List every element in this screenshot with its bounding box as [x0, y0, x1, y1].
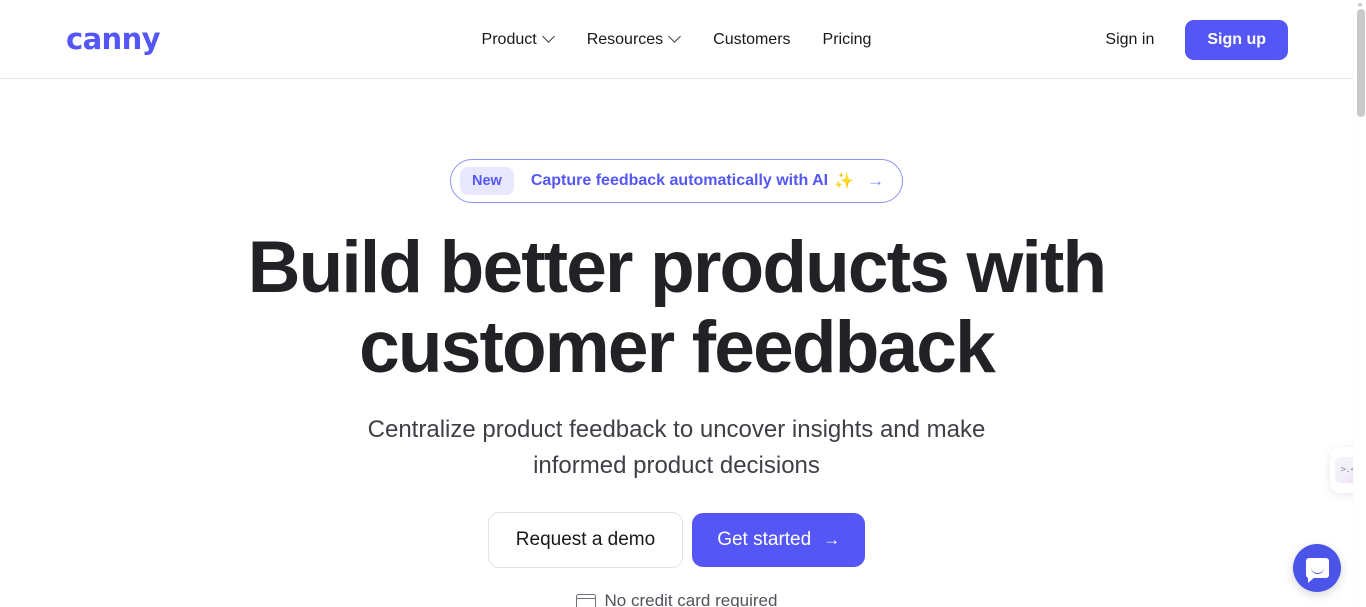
- smile-icon: [1311, 567, 1324, 574]
- announcement-banner-wrap: New Capture feedback automatically with …: [0, 159, 1353, 203]
- nav-item-label: Product: [482, 30, 537, 50]
- vertical-scrollbar[interactable]: [1353, 0, 1366, 607]
- browser-viewport: canny Product Resources Customers Pricin…: [0, 0, 1366, 607]
- site-header: canny Product Resources Customers Pricin…: [0, 0, 1353, 79]
- nav-item-product[interactable]: Product: [466, 22, 571, 58]
- nav-item-pricing[interactable]: Pricing: [807, 22, 888, 58]
- page-content: canny Product Resources Customers Pricin…: [0, 0, 1353, 607]
- sparkles-icon: ✨: [834, 171, 854, 191]
- arrow-right-icon: →: [867, 173, 884, 189]
- vertical-scrollbar-thumb[interactable]: [1357, 9, 1365, 117]
- nav-item-label: Pricing: [823, 30, 872, 50]
- nav-item-resources[interactable]: Resources: [571, 22, 697, 58]
- nav-item-label: Customers: [713, 30, 790, 50]
- nav-item-customers[interactable]: Customers: [697, 22, 806, 58]
- request-demo-button[interactable]: Request a demo: [488, 512, 683, 568]
- cta-button-group: Request a demo Get started →: [0, 512, 1353, 568]
- credit-card-icon: [576, 594, 596, 607]
- arrow-right-icon: →: [823, 530, 840, 550]
- chevron-down-icon: [544, 32, 555, 43]
- intercom-chat-launcher[interactable]: [1293, 544, 1341, 592]
- sign-up-button[interactable]: Sign up: [1185, 20, 1288, 60]
- no-credit-card-label: No credit card required: [605, 591, 778, 607]
- hero-section: New Capture feedback automatically with …: [0, 79, 1353, 607]
- scroll-up-arrow-icon[interactable]: [1357, 2, 1363, 6]
- chevron-down-icon: [670, 32, 681, 43]
- new-badge: New: [460, 167, 514, 195]
- get-started-button[interactable]: Get started →: [692, 513, 865, 567]
- get-started-label: Get started: [717, 529, 811, 551]
- chat-bubble-icon: [1306, 558, 1329, 578]
- nav-item-label: Resources: [587, 30, 663, 50]
- header-actions: Sign in Sign up: [1089, 0, 1288, 79]
- announcement-banner[interactable]: New Capture feedback automatically with …: [450, 159, 903, 203]
- page-subtitle: Centralize product feedback to uncover i…: [327, 412, 1027, 484]
- page-title: Build better products with customer feed…: [247, 228, 1107, 388]
- sign-in-link[interactable]: Sign in: [1089, 21, 1170, 59]
- no-credit-card-note: No credit card required: [0, 591, 1353, 607]
- announcement-text: Capture feedback automatically with AI: [531, 171, 828, 191]
